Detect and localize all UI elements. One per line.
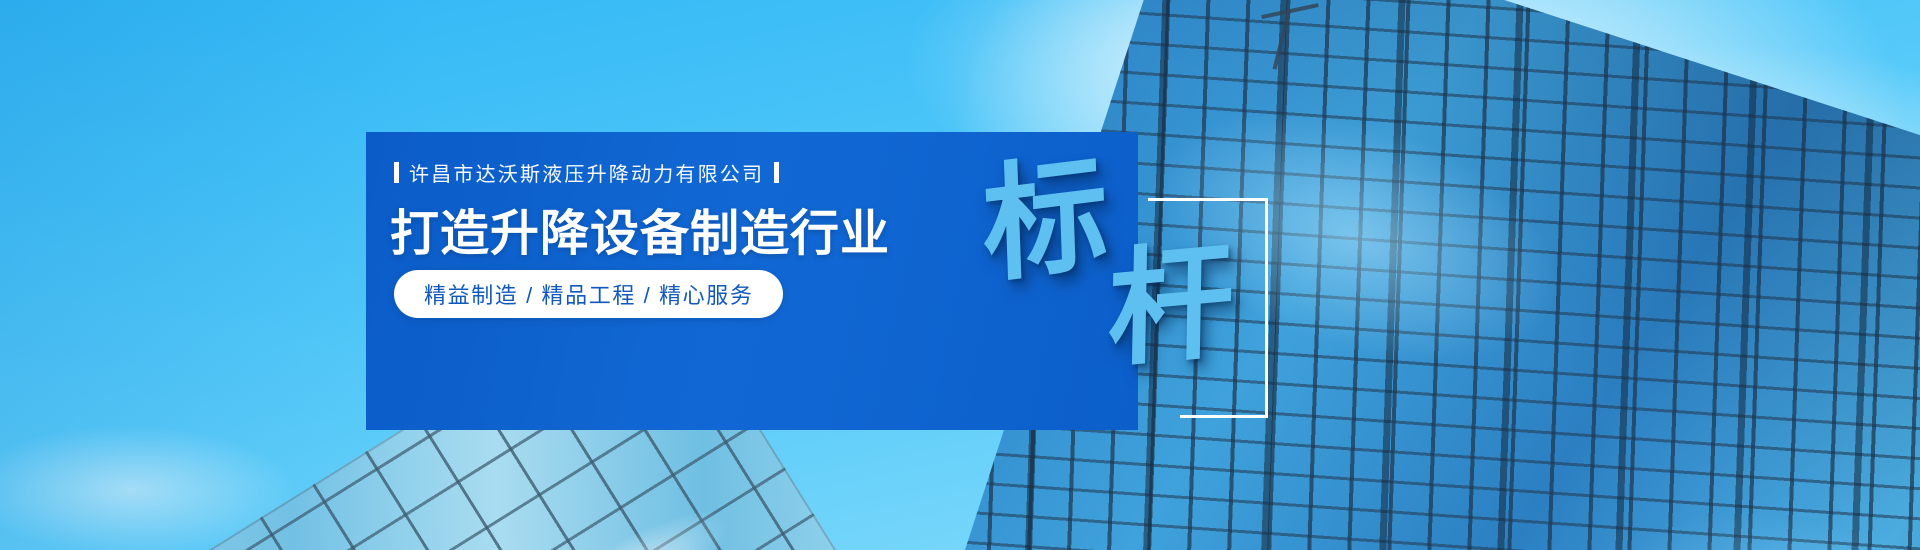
page-title: 打造升降设备制造行业 <box>390 194 890 265</box>
slogan-pill: 精益制造 / 精品工程 / 精心服务 <box>394 270 783 318</box>
calligraphy-frame-right <box>1265 198 1268 418</box>
calligraphy-frame-bottom-right <box>1180 415 1268 418</box>
company-kicker: 许昌市达沃斯液压升降动力有限公司 <box>394 158 779 187</box>
hero-banner: 许昌市达沃斯液压升降动力有限公司 打造升降设备制造行业 精益制造 / 精品工程 … <box>0 0 1920 550</box>
company-name-text: 许昌市达沃斯液压升降动力有限公司 <box>409 158 764 187</box>
tick-bar-right-icon <box>774 162 779 183</box>
tick-bar-left-icon <box>394 162 399 183</box>
content-panel: 许昌市达沃斯液压升降动力有限公司 打造升降设备制造行业 精益制造 / 精品工程 … <box>366 132 1138 430</box>
calligraphy-frame-top-right <box>1148 198 1268 201</box>
